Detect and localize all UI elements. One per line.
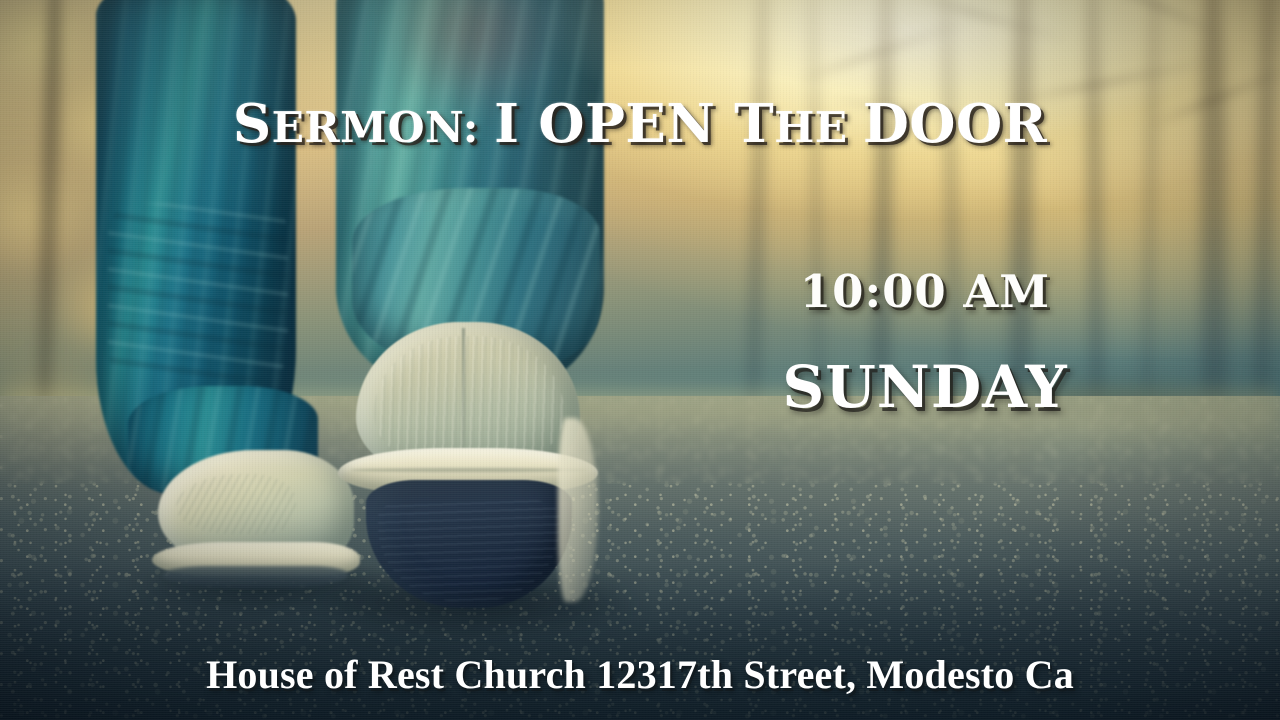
headline-sermon-smallcaps: ERMON: xyxy=(272,102,495,152)
headline-the-smallcaps: HE xyxy=(774,102,863,152)
headline-sermon-cap: S xyxy=(233,93,272,155)
sermon-headline: SERMON: I OPEN THE DOOR xyxy=(0,97,1280,153)
headline-open: OPEN xyxy=(538,93,734,155)
service-day: SUNDAY xyxy=(700,353,1150,421)
headline-the-cap: T xyxy=(734,93,774,155)
headline-door: DOOR xyxy=(863,93,1047,155)
text-overlay: SERMON: I OPEN THE DOOR 10:00 AM SUNDAY … xyxy=(0,0,1280,720)
sermon-announcement-poster: SERMON: I OPEN THE DOOR 10:00 AM SUNDAY … xyxy=(0,0,1280,720)
service-time: 10:00 AM xyxy=(700,265,1150,318)
headline-i: I xyxy=(494,93,538,155)
church-address: House of Rest Church 12317th Street, Mod… xyxy=(0,651,1280,698)
